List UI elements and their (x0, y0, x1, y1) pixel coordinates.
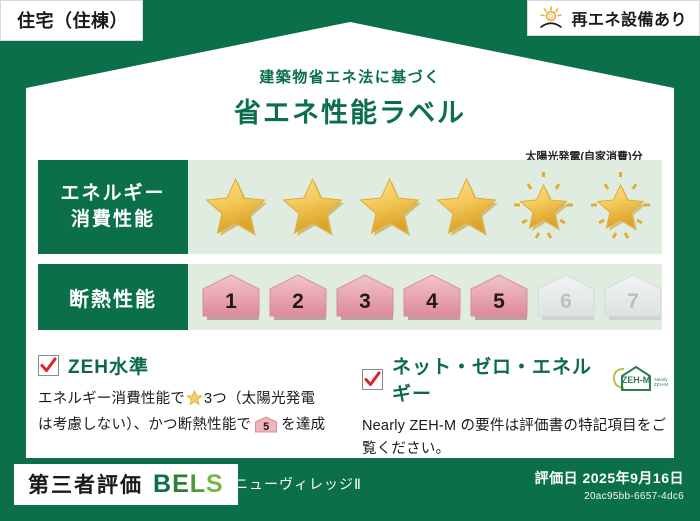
star-icon-3 (352, 170, 427, 244)
check-icon-zeh (38, 355, 59, 376)
renewable-equipment-tag: D 再エネ設備あり (527, 0, 700, 36)
zeh-standard-block: ZEH水準 エネルギー消費性能で3つ（太陽光発電は考慮しない）、かつ断熱性能で5… (38, 352, 348, 437)
third-party-eval-label: 第三者評価 (28, 469, 143, 499)
insulation-level-7: 7 (602, 274, 664, 320)
zeh-body-part1: エネルギー消費性能で (38, 391, 185, 407)
bels-energy-label: 住宅（住棟） D 再エネ設備あり 建築物省エネ法に基づく 省エネ性能ラベル (0, 0, 700, 521)
insulation-level-2-label: 2 (292, 290, 304, 320)
label-subtitle: 建築物省エネ法に基づく (0, 66, 700, 87)
label-title-block: 建築物省エネ法に基づく 省エネ性能ラベル (0, 66, 700, 130)
energy-performance-key: エネルギー 消費性能 (38, 160, 188, 254)
reference-id: 20ac95bb-6657-4dc6 (535, 491, 684, 502)
label-main-title: 省エネ性能ラベル (0, 91, 700, 130)
bels-footer-badge: 第三者評価 BELS (14, 464, 238, 505)
building-type-label: 住宅（住棟） (17, 7, 128, 33)
insulation-level-3: 3 (334, 274, 396, 320)
insulation-level-6-label: 6 (560, 290, 572, 320)
zeh-standard-body: エネルギー消費性能で3つ（太陽光発電は考慮しない）、かつ断熱性能で5を達成 (38, 388, 348, 437)
energy-star-scale (188, 160, 662, 254)
svg-text:D: D (549, 15, 554, 21)
zeh-body-part3: は考慮しない）、かつ断熱性能で (38, 417, 251, 433)
net-zero-energy-title: ネット・ゼロ・エネルギー (392, 352, 596, 406)
renewable-equipment-label: 再エネ設備あり (571, 6, 687, 30)
star-icon-6-solar (583, 170, 658, 244)
insulation-level-3-label: 3 (359, 290, 371, 320)
bels-logo: BELS (153, 470, 224, 499)
inline-level-badge: 5 (254, 416, 278, 433)
insulation-performance-key: 断熱性能 (38, 264, 188, 330)
net-zero-energy-block: ネット・ゼロ・エネルギー ZEH-M Nearly ZEH-M Nearly Z… (362, 352, 672, 461)
insulation-performance-row: 断熱性能 1 (38, 264, 662, 330)
inline-level-badge-label: 5 (254, 419, 278, 437)
evaluation-meta: 評価日 2025年9月16日 20ac95bb-6657-4dc6 (535, 468, 684, 502)
insulation-level-4: 4 (401, 274, 463, 320)
zeh-body-part4: を達成 (281, 417, 325, 433)
insulation-level-5: 5 (468, 274, 530, 320)
bels-letter-e: E (172, 470, 190, 498)
insulation-level-1: 1 (200, 274, 262, 320)
energy-key-line2: 消費性能 (71, 207, 155, 233)
building-type-tag: 住宅（住棟） (0, 0, 143, 41)
insulation-level-5-label: 5 (493, 290, 505, 320)
insulation-level-2: 2 (267, 274, 329, 320)
evaluation-date: 評価日 2025年9月16日 (535, 468, 684, 488)
zeh-standard-header: ZEH水準 (38, 352, 348, 379)
check-icon-net-zero (362, 369, 383, 390)
net-zero-energy-header: ネット・ゼロ・エネルギー ZEH-M Nearly ZEH-M (362, 352, 672, 406)
star-icon-4 (429, 170, 504, 244)
bels-letter-s: S (206, 470, 224, 498)
net-zero-energy-body: Nearly ZEH-M の要件は評価書の特記項目をご覧ください。 (362, 415, 672, 461)
svg-text:ZEH-M: ZEH-M (654, 382, 668, 387)
inline-star-icon (186, 390, 203, 414)
zeh-body-part2: 3つ（太陽光発電 (204, 391, 315, 407)
star-icon-5-solar (506, 170, 581, 244)
bels-letter-l: L (190, 470, 206, 498)
property-name: ニューヴィレッジⅡ (234, 474, 362, 494)
insulation-level-7-label: 7 (627, 290, 639, 320)
insulation-level-6: 6 (535, 274, 597, 320)
zeh-standard-title: ZEH水準 (68, 352, 149, 379)
insulation-level-1-label: 1 (225, 290, 237, 320)
insulation-key-label: 断熱性能 (69, 283, 157, 312)
energy-performance-row: エネルギー 消費性能 (38, 160, 662, 254)
zeh-m-logo-icon: ZEH-M Nearly ZEH-M (610, 364, 672, 394)
insulation-level-scale: 1 2 3 4 (188, 264, 662, 330)
energy-key-line1: エネルギー (60, 181, 165, 207)
star-icon-2 (275, 170, 350, 244)
insulation-level-4-label: 4 (426, 290, 438, 320)
star-icon-1 (198, 170, 273, 244)
sun-solar-icon: D (538, 6, 564, 30)
bels-letter-b: B (153, 470, 172, 498)
svg-text:ZEH-M: ZEH-M (622, 375, 651, 385)
